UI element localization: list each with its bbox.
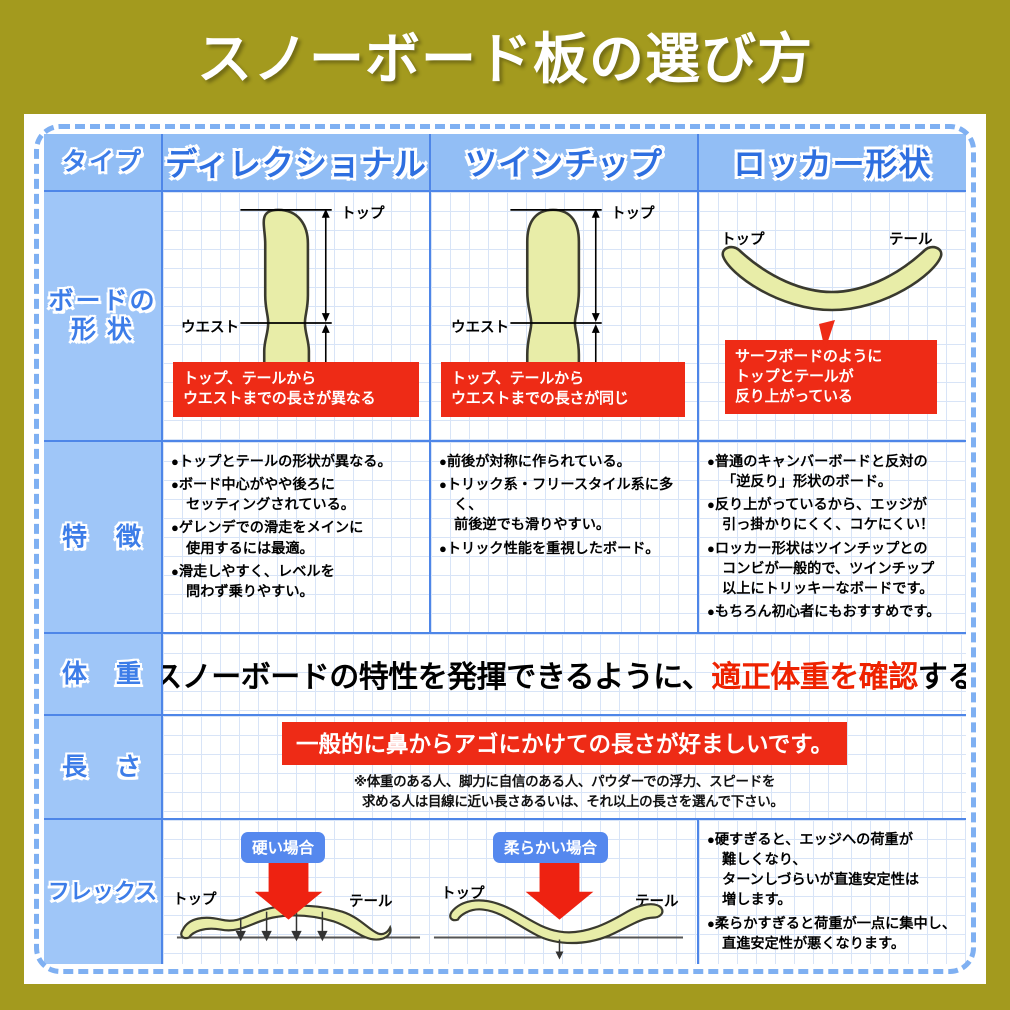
- length-advice-block: 一般的に鼻からアゴにかけての長さが好ましいです。 ※体重のある人、脚力に自信のあ…: [163, 716, 966, 818]
- list-item: 硬すぎると、エッジへの荷重が 難しくなり、 ターンしづらいが直進安定性は 増しま…: [707, 830, 958, 911]
- row-weight: 体 重 各スノーボードの特性を発揮できるように、適正体重を確認する。: [44, 634, 966, 716]
- list-item: 普通のキャンバーボードと反対の 「逆反り」形状のボード。: [707, 452, 958, 492]
- column-header-rocker: ロッカー形状: [699, 134, 966, 192]
- list-item: トップとテールの形状が異なる。: [171, 452, 421, 472]
- cell-features-rocker: 普通のキャンバーボードと反対の 「逆反り」形状のボード。 反り上がっているから、…: [699, 442, 966, 634]
- list-item: 柔らかすぎると荷重が一点に集中し、 直進安定性が悪くなります。: [707, 914, 958, 954]
- row-label-board-shape: ボードの 形 状: [44, 192, 163, 442]
- cell-flex-diagrams: 硬い場合 柔らかい場合: [163, 820, 699, 964]
- row-label-flex: フレックス: [44, 820, 163, 964]
- list-item: トリック性能を重視したボード。: [439, 539, 689, 559]
- list-item: ロッカー形状はツインチップとの コンビが一般的で、ツインチップ 以上にトリッキー…: [707, 539, 958, 599]
- features-list-rocker: 普通のキャンバーボードと反対の 「逆反り」形状のボード。 反り上がっているから、…: [699, 442, 966, 629]
- cell-shape-rocker: トップ テール サーフボードのように トップとテールが 反り上がっている: [699, 192, 966, 442]
- page-title: スノーボード板の選び方: [0, 14, 1010, 94]
- cell-features-twintip: 前後が対称に作られている。 トリック系・フリースタイル系に多く、 前後逆でも滑り…: [431, 442, 699, 634]
- badge-hard: 硬い場合: [241, 832, 325, 863]
- list-item: トリック系・フリースタイル系に多く、 前後逆でも滑りやすい。: [439, 475, 689, 535]
- cell-length-advice: 一般的に鼻からアゴにかけての長さが好ましいです。 ※体重のある人、脚力に自信のあ…: [163, 716, 966, 820]
- row-length: 長 さ 一般的に鼻からアゴにかけての長さが好ましいです。 ※体重のある人、脚力に…: [44, 716, 966, 820]
- table-header-row: タイプ ディレクショナル ツインチップ ロッカー形状: [44, 134, 966, 192]
- row-label-length: 長 さ: [44, 716, 163, 820]
- list-item: ゲレンデでの滑走をメインに 使用するには最適。: [171, 518, 421, 558]
- row-label-weight: 体 重: [44, 634, 163, 716]
- list-item: 滑走しやすく、レベルを 問わず乗りやすい。: [171, 562, 421, 602]
- callout-twintip: トップ、テールから ウエストまでの長さが同じ: [441, 362, 685, 417]
- cell-weight-advice: 各スノーボードの特性を発揮できるように、適正体重を確認する。: [163, 634, 966, 716]
- features-list-directional: トップとテールの形状が異なる。 ボード中心がやや後ろに セッティングされている。…: [163, 442, 429, 609]
- list-item: ボード中心がやや後ろに セッティングされている。: [171, 475, 421, 515]
- weight-text-before: 各スノーボードの特性を発揮できるように、: [163, 652, 711, 696]
- row-label-features: 特 徴: [44, 442, 163, 634]
- cell-shape-twintip: トップ ウエスト テール トップ、テールから ウエストまでの長さが同じ: [431, 192, 699, 442]
- column-header-twintip: ツインチップ: [431, 134, 699, 192]
- weight-advice-text: 各スノーボードの特性を発揮できるように、適正体重を確認する。: [163, 634, 966, 714]
- badge-soft: 柔らかい場合: [493, 832, 608, 863]
- row-features: 特 徴 トップとテールの形状が異なる。 ボード中心がやや後ろに セッティングされ…: [44, 442, 966, 634]
- list-item: 反り上がっているから、エッジが 引っ掛かりにくく、コケにくい！: [707, 495, 958, 535]
- weight-text-after: する。: [918, 652, 966, 696]
- header-row-label: タイプ: [44, 134, 163, 192]
- rocker-callout-pointer: [699, 192, 966, 442]
- length-banner: 一般的に鼻からアゴにかけての長さが好ましいです。: [282, 722, 847, 765]
- flex-notes-list: 硬すぎると、エッジへの荷重が 難しくなり、 ターンしづらいが直進安定性は 増しま…: [699, 820, 966, 961]
- cell-flex-notes: 硬すぎると、エッジへの荷重が 難しくなり、 ターンしづらいが直進安定性は 増しま…: [699, 820, 966, 964]
- cell-features-directional: トップとテールの形状が異なる。 ボード中心がやや後ろに セッティングされている。…: [163, 442, 431, 634]
- weight-text-highlight: 適正体重を確認: [711, 652, 918, 696]
- list-item: もちろん初心者にもおすすめです。: [707, 602, 958, 622]
- length-note: ※体重のある人、脚力に自信のある人、パウダーでの浮力、スピードを 求める人は目線…: [345, 772, 783, 813]
- callout-directional: トップ、テールから ウエストまでの長さが異なる: [173, 362, 419, 417]
- row-flex: フレックス 硬い場合 柔らかい場合: [44, 820, 966, 964]
- infographic-page: スノーボード板の選び方 タイプ ディレクショナル ツインチップ ロッカー形状 ボ…: [0, 0, 1010, 1010]
- features-list-twintip: 前後が対称に作られている。 トリック系・フリースタイル系に多く、 前後逆でも滑り…: [431, 442, 697, 566]
- row-board-shape: ボードの 形 状 トップ ウエスト テール トップ: [44, 192, 966, 442]
- cell-shape-directional: トップ ウエスト テール トップ、テールから ウエストまでの長さが異なる: [163, 192, 431, 442]
- column-header-directional: ディレクショナル: [163, 134, 431, 192]
- list-item: 前後が対称に作られている。: [439, 452, 689, 472]
- comparison-table: タイプ ディレクショナル ツインチップ ロッカー形状 ボードの 形 状: [44, 134, 966, 964]
